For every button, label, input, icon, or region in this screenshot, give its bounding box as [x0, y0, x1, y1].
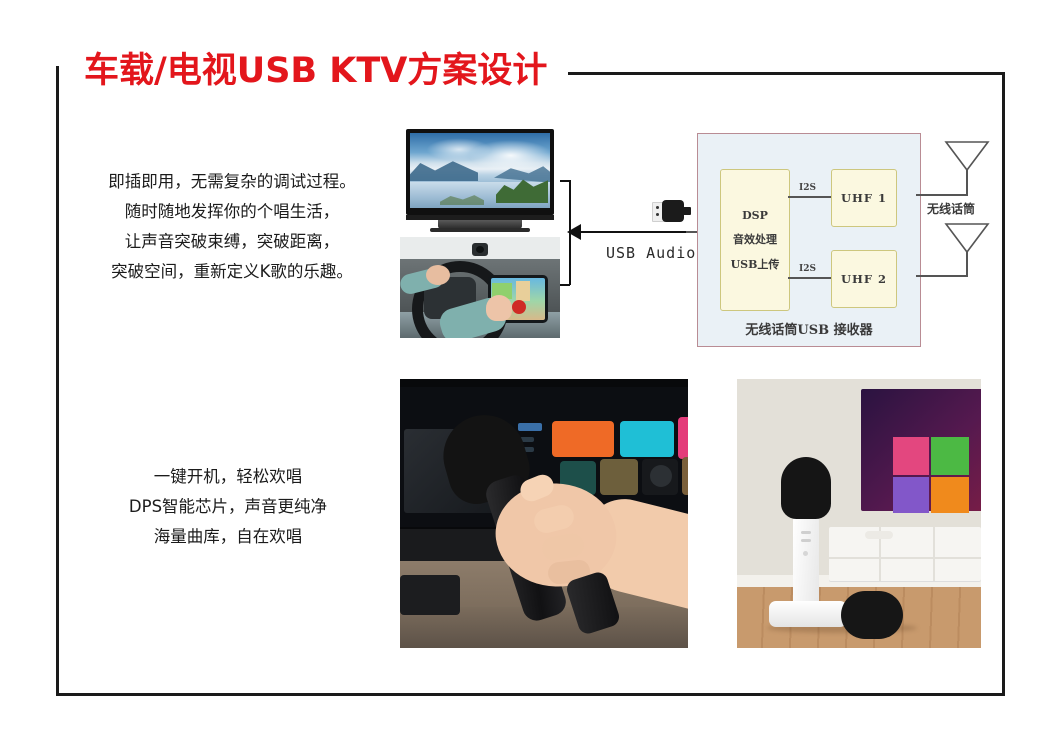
- intro-line-3: 让声音突破束缚，突破距离，: [82, 227, 382, 257]
- uhf1-block: UHF 1: [831, 169, 897, 227]
- microphone-indicator-led: [803, 551, 808, 556]
- car-screen-record-button: [512, 300, 526, 314]
- tv-mountain-right: [494, 163, 550, 183]
- antenna-1-wire: [916, 194, 968, 196]
- usb-plug-cable-tail: [682, 207, 691, 215]
- antenna-1-stem: [966, 170, 968, 196]
- dsp-block: DSP 音效处理 USB上传: [720, 169, 790, 311]
- frame-left-edge: [56, 66, 59, 696]
- intro-line-2: 随时随地发挥你的个唱生活，: [82, 197, 382, 227]
- media-thumb-4: [682, 457, 688, 495]
- car-screen-tile-tan: [516, 281, 530, 301]
- uhf2-label: UHF 2: [841, 272, 887, 286]
- driver-hand-on-wheel: [426, 265, 450, 285]
- cabinet-seam-right: [933, 527, 935, 581]
- media-tile-cyan: [620, 421, 674, 457]
- media-thumb-2: [600, 459, 638, 495]
- slide-canvas: 车载/电视USB KTV方案设计 即插即用，无需复杂的调试过程。 随时随地发挥你…: [0, 0, 1061, 749]
- intro-line-1: 即插即用，无需复杂的调试过程。: [82, 167, 382, 197]
- frame-right-edge: [1002, 72, 1005, 696]
- cabinet-seam-horizontal: [829, 557, 981, 559]
- antenna-2-wire: [916, 275, 968, 277]
- features-paragraph: 一键开机，轻松欢唱 DPS智能芯片，声音更纯净 海量曲库，自在欢唱: [78, 462, 378, 552]
- intro-line-4: 突破空间，重新定义K歌的乐趣。: [82, 257, 382, 287]
- wireless-microphone-label: 无线话筒: [927, 200, 975, 217]
- tv-mountain-left: [410, 159, 478, 181]
- microphone-button-2: [801, 539, 811, 542]
- media-menu-highlight: [518, 423, 542, 431]
- page-title: 车载/电视USB KTV方案设计: [84, 42, 547, 93]
- car-camera-lens: [476, 246, 484, 253]
- car-dashboard-photo: [400, 237, 560, 338]
- usb-audio-label: USB Audio: [606, 244, 696, 262]
- driver-hand-on-screen: [486, 295, 512, 321]
- tv-stand-base: [430, 228, 530, 232]
- i2s-wire-1: [788, 196, 831, 198]
- feature-line-1: 一键开机，轻松欢唱: [78, 462, 378, 492]
- standing-microphone-foam-head: [781, 457, 831, 519]
- tv-console-cabinet: [829, 527, 981, 581]
- i2s-label-1: I2S: [799, 183, 816, 193]
- media-thumb-3-disc: [650, 465, 672, 487]
- dsp-block-line-3: USB上传: [731, 256, 780, 272]
- tv-tile-chat: [931, 437, 969, 475]
- feature-line-3: 海量曲库，自在欢唱: [78, 522, 378, 552]
- wireless-microphones-room-photo: [737, 379, 981, 648]
- media-tile-pink: [678, 417, 688, 459]
- lying-microphone-body: [769, 601, 847, 627]
- i2s-wire-2: [788, 277, 831, 279]
- dsp-block-line-1: DSP: [742, 209, 768, 222]
- dsp-block-line-2: 音效处理: [733, 231, 777, 247]
- uhf2-block: UHF 2: [831, 250, 897, 308]
- tv-screen: [410, 133, 550, 208]
- flat-screen-tv-photo: [400, 127, 560, 235]
- antenna-1-icon: [944, 140, 990, 172]
- usb-audio-connector-line: [570, 231, 700, 233]
- usb-plug-contact-top: [656, 206, 659, 209]
- feature-line-2: DPS智能芯片，声音更纯净: [78, 492, 378, 522]
- usb-audio-arrow-head: [567, 224, 581, 240]
- receiver-block-diagram: DSP 音效处理 USB上传 I2S I2S UHF 1 UHF 2 无线话筒U…: [697, 133, 921, 347]
- tv-bezel: [406, 129, 554, 215]
- antenna-2-stem: [966, 252, 968, 277]
- frame-top-edge: [568, 72, 1005, 75]
- receiver-caption: 无线话筒USB 接收器: [698, 319, 920, 338]
- tv-remote-control: [865, 531, 893, 539]
- microphone-in-car-photo: [400, 379, 688, 648]
- i2s-label-2: I2S: [799, 264, 816, 274]
- lying-microphone-foam-head: [841, 591, 903, 639]
- antenna-2-icon: [944, 222, 990, 254]
- car-console-tray: [400, 575, 460, 615]
- usb-plug-contact-bottom: [656, 213, 659, 216]
- tv-tile-music: [893, 437, 929, 475]
- usb-plug-icon: [650, 200, 690, 222]
- media-tile-orange: [552, 421, 614, 457]
- uhf1-label: UHF 1: [841, 191, 887, 205]
- tv-tile-send: [893, 477, 929, 513]
- bracket-bottom-arm: [560, 284, 570, 286]
- frame-bottom-edge: [56, 693, 1005, 696]
- microphone-button-1: [801, 531, 811, 534]
- intro-paragraph: 即插即用，无需复杂的调试过程。 随时随地发挥你的个唱生活， 让声音突破束缚，突破…: [82, 167, 382, 287]
- tv-tile-view: [931, 477, 969, 513]
- usb-plug-housing: [662, 200, 684, 222]
